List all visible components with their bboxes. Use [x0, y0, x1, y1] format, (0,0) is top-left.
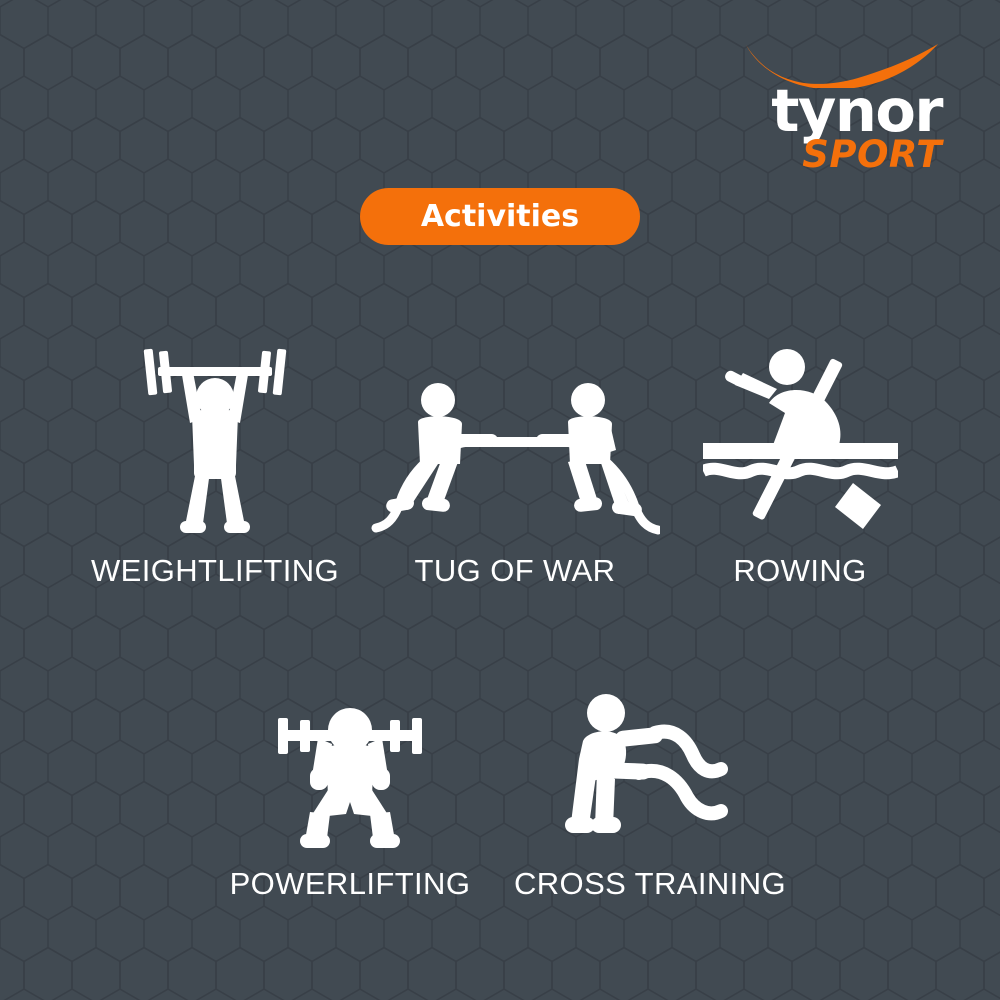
icon-container: [370, 330, 660, 535]
activity-item-tug-of-war[interactable]: TUG OF WAR: [365, 330, 665, 589]
brand-tagline: SPORT: [722, 136, 942, 173]
icon-container: [563, 688, 738, 848]
activity-item-weightlifting[interactable]: WEIGHTLIFTING: [65, 330, 365, 589]
brand-logo: tynor SPORT: [722, 40, 942, 173]
activity-item-rowing[interactable]: ROWING: [665, 330, 935, 589]
tug-of-war-icon: [370, 380, 660, 535]
icon-container: [140, 330, 290, 535]
rowing-icon: [703, 345, 898, 535]
activity-label-rowing: ROWING: [733, 553, 866, 589]
activity-item-powerlifting[interactable]: POWERLIFTING: [200, 688, 500, 902]
activities-row-2: POWERLIFTING: [0, 688, 1000, 902]
icon-container: [270, 688, 430, 848]
activity-label-weightlifting: WEIGHTLIFTING: [91, 553, 339, 589]
cross-training-icon: [563, 693, 738, 848]
activities-poster: tynor SPORT Activities: [0, 0, 1000, 1000]
weightlifting-icon: [140, 345, 290, 535]
activity-label-cross-training: CROSS TRAINING: [514, 866, 786, 902]
activities-badge: Activities: [360, 188, 640, 245]
icon-container: [703, 330, 898, 535]
activity-label-tug-of-war: TUG OF WAR: [415, 553, 616, 589]
brand-name: tynor: [722, 84, 942, 138]
activities-row-1: WEIGHTLIFTING: [0, 330, 1000, 589]
activity-label-powerlifting: POWERLIFTING: [230, 866, 471, 902]
activities-badge-label: Activities: [421, 199, 579, 234]
powerlifting-icon: [270, 698, 430, 848]
activity-item-cross-training[interactable]: CROSS TRAINING: [500, 688, 800, 902]
